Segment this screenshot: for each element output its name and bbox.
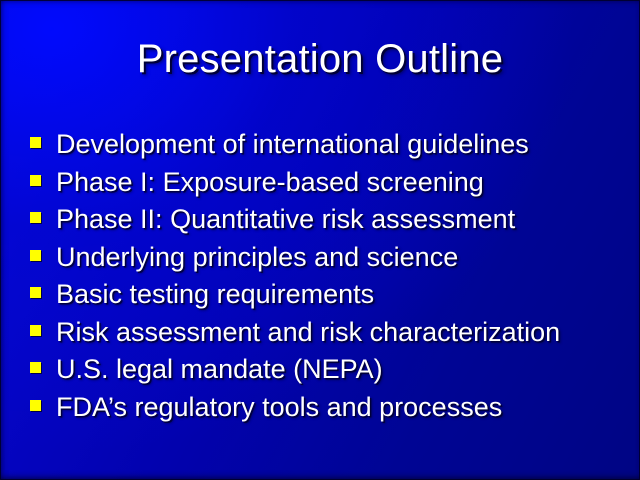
list-item-label: Development of international guidelines — [56, 129, 529, 160]
page-title: Presentation Outline — [0, 36, 640, 82]
outline-bullet-list: Development of international guidelines … — [30, 126, 622, 426]
square-bullet-icon — [30, 175, 41, 186]
presentation-slide: Presentation Outline Development of inte… — [0, 0, 640, 480]
list-item-label: FDA’s regulatory tools and processes — [56, 392, 502, 423]
list-item: Basic testing requirements — [30, 276, 622, 314]
square-bullet-icon — [30, 250, 41, 261]
list-item-label: Underlying principles and science — [56, 242, 458, 273]
list-item-label: Phase II: Quantitative risk assessment — [56, 204, 515, 235]
square-bullet-icon — [30, 137, 41, 148]
square-bullet-icon — [30, 362, 41, 373]
list-item: Phase II: Quantitative risk assessment — [30, 201, 622, 239]
list-item-label: Phase I: Exposure-based screening — [56, 167, 484, 198]
list-item: FDA’s regulatory tools and processes — [30, 389, 622, 427]
square-bullet-icon — [30, 325, 41, 336]
list-item: Underlying principles and science — [30, 239, 622, 277]
list-item: U.S. legal mandate (NEPA) — [30, 351, 622, 389]
square-bullet-icon — [30, 400, 41, 411]
list-item: Risk assessment and risk characterizatio… — [30, 314, 622, 352]
square-bullet-icon — [30, 287, 41, 298]
list-item: Phase I: Exposure-based screening — [30, 164, 622, 202]
list-item-label: U.S. legal mandate (NEPA) — [56, 354, 383, 385]
square-bullet-icon — [30, 212, 41, 223]
list-item-label: Basic testing requirements — [56, 279, 374, 310]
list-item-label: Risk assessment and risk characterizatio… — [56, 317, 560, 348]
list-item: Development of international guidelines — [30, 126, 622, 164]
